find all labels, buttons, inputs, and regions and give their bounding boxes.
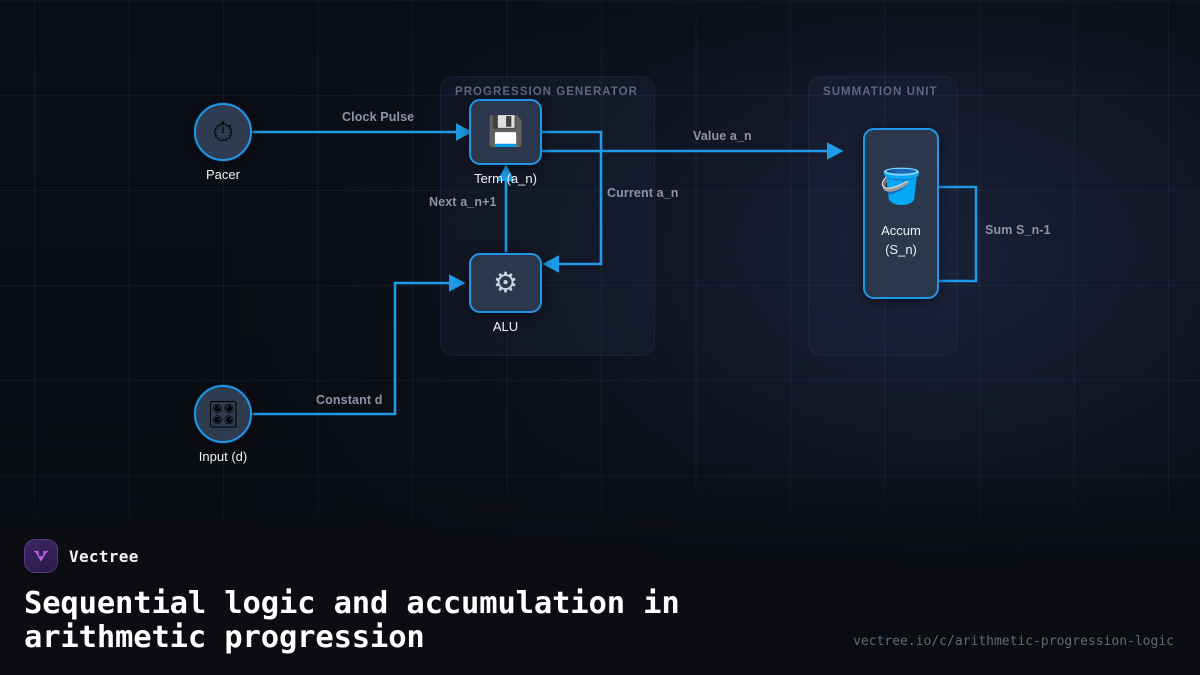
vectree-glyph (31, 546, 51, 566)
node-label-input-d: Input (d) (199, 448, 247, 467)
headline-line-1: Sequential logic and accumulation in (24, 587, 680, 621)
node-pacer[interactable]: ⏱ Pacer (194, 103, 252, 161)
node-label-term: Term (a_n) (474, 170, 537, 189)
pacer-shape[interactable]: ⏱ (194, 103, 252, 161)
footer: Vectree Sequential logic and accumulatio… (0, 535, 1200, 675)
node-term[interactable]: 💾 Term (a_n) (469, 99, 542, 165)
headline-line-2: arithmetic progression (24, 621, 680, 655)
node-input-d[interactable]: 🎛 Input (d) (194, 385, 252, 443)
edge-label-sum-s-n1: Sum S_n-1 (985, 223, 1051, 237)
edge-label-value-a-n: Value a_n (693, 129, 752, 143)
node-label-accum-line2: (S_n) (881, 241, 921, 260)
brand: Vectree (24, 539, 139, 573)
diagram-canvas: PROGRESSION GENERATOR SUMMATION UNIT (0, 0, 1200, 675)
vectree-logo-icon (24, 539, 58, 573)
page-title: Sequential logic and accumulation in ari… (24, 587, 680, 656)
gear-icon: ⚙ (493, 269, 518, 297)
floppy-disk-icon: 💾 (487, 118, 523, 147)
wires-svg (0, 0, 1200, 520)
control-knobs-icon: 🎛 (206, 401, 239, 427)
wire-layer (0, 0, 1200, 520)
accum-shape[interactable]: 🪣 Accum (S_n) (863, 128, 939, 299)
node-accum[interactable]: 🪣 Accum (S_n) (863, 128, 939, 299)
edge-label-current-a-n: Current a_n (607, 186, 679, 200)
term-shape[interactable]: 💾 (469, 99, 542, 165)
alu-shape[interactable]: ⚙ (469, 253, 542, 313)
node-alu[interactable]: ⚙ ALU (469, 253, 542, 313)
node-label-accum-line1: Accum (881, 222, 921, 241)
edge-label-constant-d: Constant d (316, 393, 383, 407)
edge-label-next-a-n1: Next a_n+1 (429, 195, 497, 209)
bucket-icon: 🪣 (880, 170, 922, 204)
edge-label-clock-pulse: Clock Pulse (342, 110, 414, 124)
stopwatch-icon: ⏱ (212, 119, 233, 146)
wire-sum-s-n1 (940, 187, 976, 281)
node-label-alu: ALU (493, 318, 518, 337)
brand-name: Vectree (69, 547, 139, 566)
node-label-pacer: Pacer (206, 166, 240, 185)
source-url: vectree.io/c/arithmetic-progression-logi… (853, 634, 1174, 649)
input-d-shape[interactable]: 🎛 (194, 385, 252, 443)
